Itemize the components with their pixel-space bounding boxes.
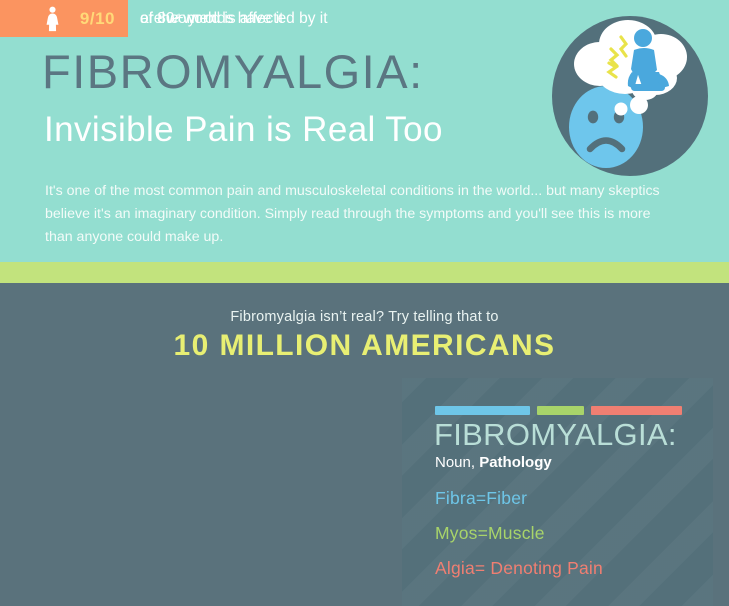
stat-label: are women bbox=[140, 10, 217, 28]
female-figure-icon bbox=[44, 5, 61, 33]
header-section: FIBROMYALGIA: Invisible Pain is Real Too… bbox=[0, 0, 729, 262]
bubble-dot-small bbox=[615, 103, 628, 116]
root-definition-algia: Algia= Denoting Pain bbox=[435, 558, 603, 579]
swatch-green bbox=[537, 406, 584, 415]
swatch-blue bbox=[435, 406, 530, 415]
sad-face-icon bbox=[569, 86, 643, 168]
stat-value: 9/10 bbox=[80, 9, 128, 29]
definition-part-of-speech: Noun, Pathology bbox=[435, 455, 552, 470]
color-swatch-row bbox=[435, 406, 682, 415]
intro-paragraph: It's one of the most common pain and mus… bbox=[45, 180, 675, 249]
swatch-red bbox=[591, 406, 682, 415]
definition-panel: FIBROMYALGIA: Noun, Pathology Fibra=Fibe… bbox=[402, 378, 713, 606]
part-of-speech-noun: Noun, bbox=[435, 454, 475, 471]
part-of-speech-pathology: Pathology bbox=[479, 454, 552, 471]
root-definition-fibra: Fibra=Fiber bbox=[435, 488, 527, 509]
stat-pill: 9/10 bbox=[0, 0, 128, 37]
root-definition-myos: Myos=Muscle bbox=[435, 523, 545, 544]
stats-headline: 10 MILLION AMERICANS bbox=[0, 329, 729, 363]
page-subtitle: Invisible Pain is Real Too bbox=[44, 112, 443, 147]
sad-face-thought-bubble-illustration bbox=[533, 12, 723, 180]
page-title: FIBROMYALGIA: bbox=[42, 48, 424, 95]
infographic-root: FIBROMYALGIA: Invisible Pain is Real Too… bbox=[0, 0, 729, 606]
definition-word: FIBROMYALGIA: bbox=[434, 419, 677, 450]
green-divider-band bbox=[0, 262, 729, 283]
stats-kicker-text: Fibromyalgia isn’t real? Try telling tha… bbox=[0, 309, 729, 325]
